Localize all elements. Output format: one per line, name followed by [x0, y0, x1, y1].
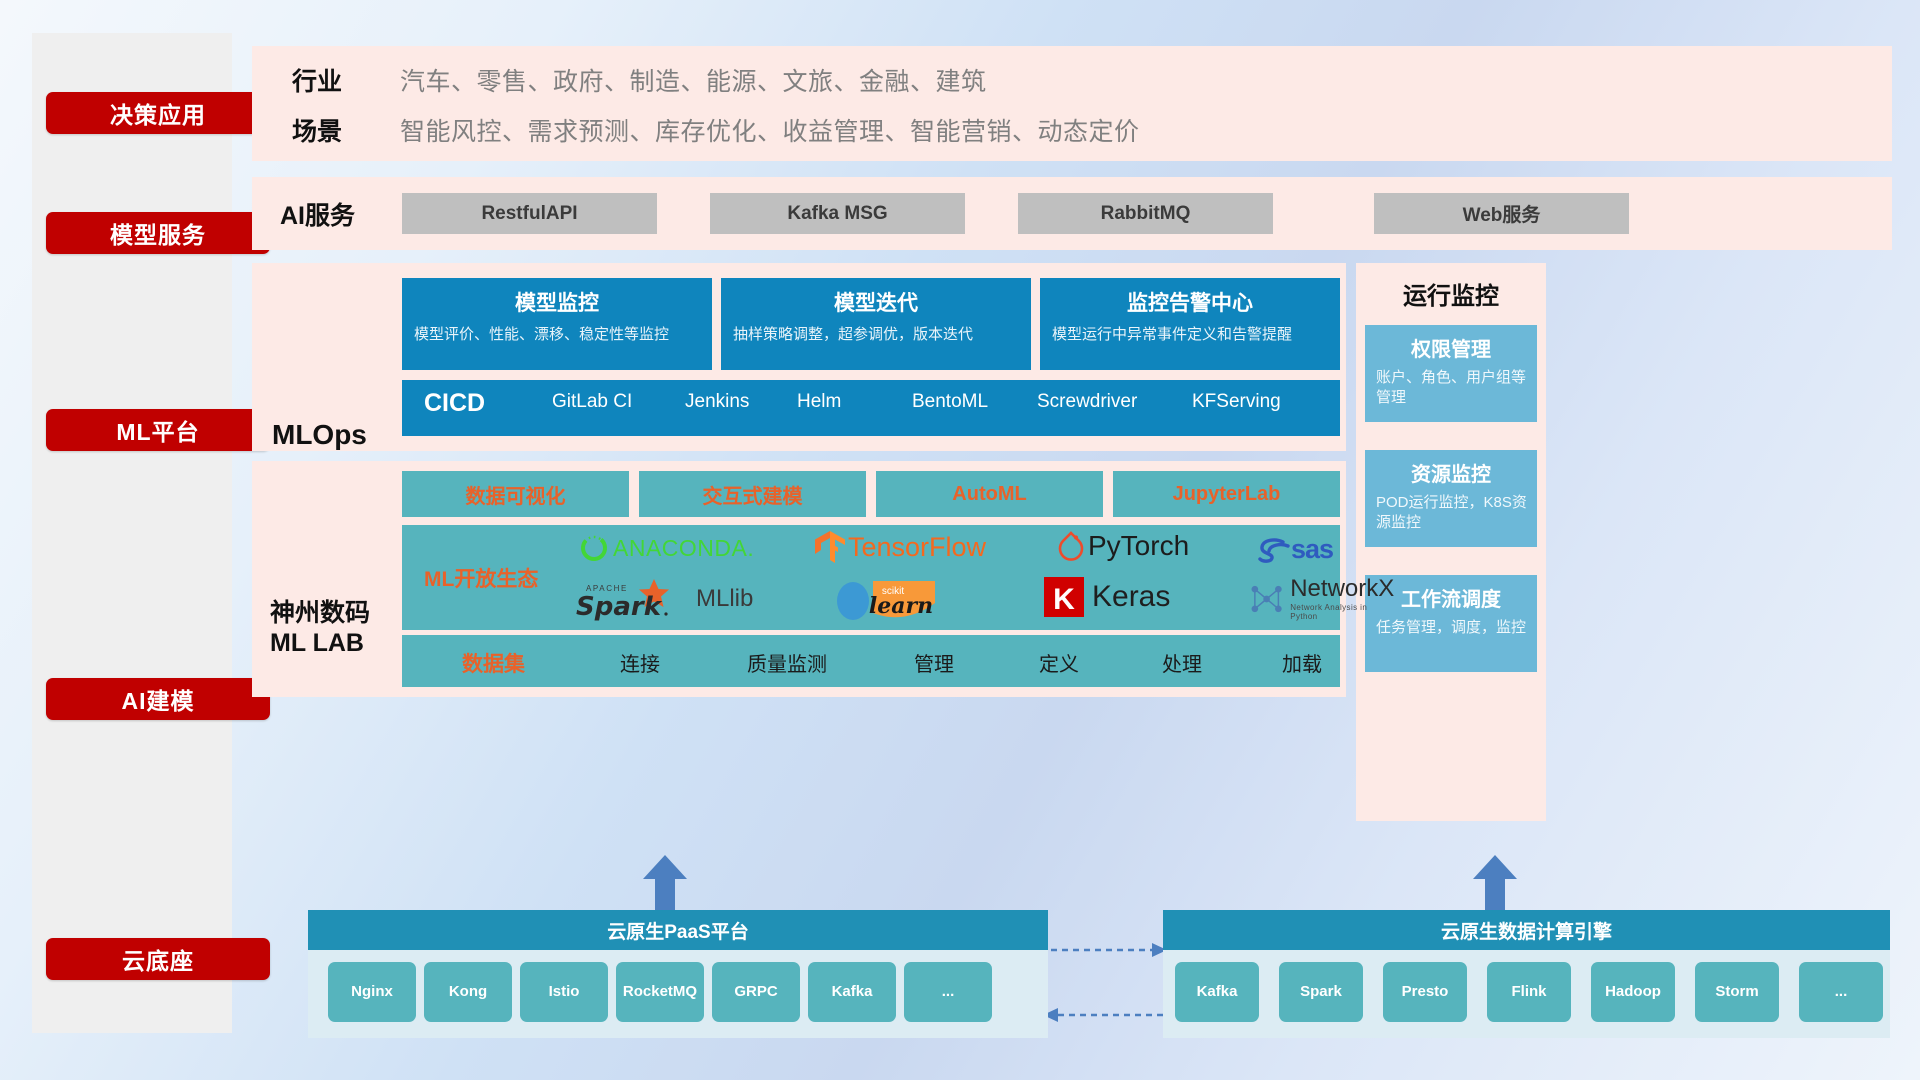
- tool-chip-label: JupyterLab: [1173, 483, 1281, 506]
- dataset-label: 数据集: [462, 648, 525, 678]
- networkx-wordmark: NetworkX: [1290, 577, 1395, 601]
- runtime-monitoring-band: 运行监控 权限管理 账户、角色、用户组等管理 资源监控 POD运行监控，K8S资…: [1356, 263, 1546, 821]
- tool-chip-interactive-modeling[interactable]: 交互式建模: [639, 471, 866, 517]
- mllib-wordmark: MLlib: [696, 585, 753, 613]
- tool-chip-label: AutoML: [952, 483, 1026, 506]
- layer-chip-label: 模型服务: [110, 216, 206, 250]
- service-chip-label: Web服务: [1463, 200, 1541, 227]
- paas-tech-grpc[interactable]: GRPC: [712, 962, 800, 1022]
- dataset-item-load[interactable]: 加载: [1282, 648, 1322, 677]
- sas-logo: sas: [1257, 534, 1333, 565]
- paas-tech-kong[interactable]: Kong: [424, 962, 512, 1022]
- spark-mllib-logo: APACHE Spark MLlib: [570, 577, 753, 621]
- industry-row: 行业 汽车、零售、政府、制造、能源、文旅、金融、建筑: [292, 62, 987, 98]
- ml-lab-label-line1: 神州数码: [270, 598, 370, 629]
- runtime-monitoring-title: 运行监控: [1356, 276, 1546, 311]
- layer-chip-ml-platform[interactable]: ML平台: [46, 409, 270, 451]
- layer-chip-label: 云底座: [122, 942, 194, 976]
- cicd-item-bentoml[interactable]: BentoML: [912, 391, 1004, 413]
- svg-text:learn: learn: [869, 593, 933, 619]
- cicd-item-helm[interactable]: Helm: [797, 391, 889, 413]
- dataset-item-manage[interactable]: 管理: [914, 648, 954, 677]
- mlops-card-desc: 模型运行中异常事件定义和告警提醒: [1052, 325, 1330, 345]
- sas-icon: [1257, 537, 1291, 563]
- monitor-card-resource[interactable]: 资源监控 POD运行监控，K8S资源监控: [1365, 450, 1537, 547]
- layer-chip-model-service[interactable]: 模型服务: [46, 212, 270, 254]
- service-chip-web[interactable]: Web服务: [1374, 193, 1629, 234]
- ai-service-label: AI服务: [280, 177, 400, 250]
- monitor-card-desc: 账户、角色、用户组等管理: [1376, 368, 1527, 409]
- up-arrow-compute: [1470, 855, 1520, 910]
- service-chip-label: RabbitMQ: [1101, 203, 1191, 225]
- paas-tech-istio[interactable]: Istio: [520, 962, 608, 1022]
- scenario-value: 智能风控、需求预测、库存优化、收益管理、智能营销、动态定价: [400, 112, 1140, 148]
- tool-chip-label: 交互式建模: [703, 480, 803, 509]
- tensorflow-logo: TensorFlow: [814, 530, 986, 564]
- architecture-diagram: 决策应用 模型服务 ML平台 AI建模 云底座 行业 汽车、零售、政府、制造、能…: [0, 0, 1920, 1080]
- dataset-item-define[interactable]: 定义: [1039, 648, 1079, 677]
- mlops-card-alert-center[interactable]: 监控告警中心 模型运行中异常事件定义和告警提醒: [1040, 278, 1340, 370]
- application-band: 行业 汽车、零售、政府、制造、能源、文旅、金融、建筑 场景 智能风控、需求预测、…: [252, 46, 1892, 161]
- keras-logo: K Keras: [1042, 575, 1170, 619]
- anaconda-wordmark: ANACONDA.: [613, 535, 754, 562]
- cicd-item-jenkins[interactable]: Jenkins: [685, 391, 777, 413]
- compute-tech-more[interactable]: ...: [1799, 962, 1883, 1022]
- dashed-arrow-right: [1040, 940, 1170, 960]
- mlops-card-title: 监控告警中心: [1040, 287, 1340, 317]
- tool-chip-data-visualization[interactable]: 数据可视化: [402, 471, 629, 517]
- compute-stack: 云原生数据计算引擎 Kafka Spark Presto Flink Hadoo…: [1163, 910, 1890, 1038]
- layer-chip-ai-modeling[interactable]: AI建模: [46, 678, 270, 720]
- tool-chip-jupyterlab[interactable]: JupyterLab: [1113, 471, 1340, 517]
- ml-ecosystem-label: ML开放生态: [424, 563, 538, 593]
- cicd-item-gitlab-ci[interactable]: GitLab CI: [552, 391, 644, 413]
- dataset-item-process[interactable]: 处理: [1162, 648, 1202, 677]
- layer-rail: [32, 33, 232, 1033]
- paas-header: 云原生PaaS平台: [308, 910, 1048, 950]
- scenario-key: 场景: [292, 112, 400, 148]
- monitor-card-desc: 任务管理，调度，监控: [1376, 618, 1527, 638]
- pytorch-logo: PyTorch: [1057, 530, 1189, 562]
- compute-tech-flink[interactable]: Flink: [1487, 962, 1571, 1022]
- networkx-icon: [1247, 579, 1286, 619]
- mlops-band: MLOps 模型监控 模型评价、性能、漂移、稳定性等监控 模型迭代 抽样策略调整…: [252, 263, 1346, 451]
- layer-chip-label: ML平台: [116, 413, 199, 447]
- dataset-item-quality[interactable]: 质量监测: [747, 648, 827, 677]
- keras-wordmark: Keras: [1092, 580, 1170, 614]
- compute-tech-spark[interactable]: Spark: [1279, 962, 1363, 1022]
- scikit-learn-logo: scikit learn: [833, 577, 963, 623]
- monitor-card-title: 权限管理: [1365, 333, 1537, 362]
- cicd-item-screwdriver[interactable]: Screwdriver: [1037, 391, 1129, 413]
- ai-service-band: AI服务 RestfulAPI Kafka MSG RabbitMQ Web服务: [252, 177, 1892, 250]
- mlops-card-desc: 模型评价、性能、漂移、稳定性等监控: [414, 325, 702, 345]
- svg-text:K: K: [1053, 583, 1075, 616]
- cicd-strip: CICD GitLab CI Jenkins Helm BentoML Scre…: [402, 380, 1340, 436]
- compute-header: 云原生数据计算引擎: [1163, 910, 1890, 950]
- up-arrow-paas: [640, 855, 690, 910]
- paas-tech-more[interactable]: ...: [904, 962, 992, 1022]
- paas-tech-nginx[interactable]: Nginx: [328, 962, 416, 1022]
- svg-text:Spark: Spark: [576, 592, 663, 621]
- compute-tech-storm[interactable]: Storm: [1695, 962, 1779, 1022]
- compute-tech-hadoop[interactable]: Hadoop: [1591, 962, 1675, 1022]
- paas-tech-rocketmq[interactable]: RocketMQ: [616, 962, 704, 1022]
- mlops-card-desc: 抽样策略调整，超参调优，版本迭代: [733, 325, 1021, 345]
- dashed-arrow-left: [1040, 1005, 1170, 1025]
- scikit-learn-icon: scikit learn: [833, 577, 963, 623]
- mlops-card-model-monitoring[interactable]: 模型监控 模型评价、性能、漂移、稳定性等监控: [402, 278, 712, 370]
- cicd-label: CICD: [424, 389, 485, 418]
- networkx-logo: NetworkX Network Analysis in Python: [1247, 577, 1395, 621]
- layer-chip-label: 决策应用: [110, 96, 206, 130]
- paas-stack: 云原生PaaS平台 Nginx Kong Istio RocketMQ GRPC…: [308, 910, 1048, 1038]
- tensorflow-wordmark: TensorFlow: [848, 532, 986, 563]
- mlops-card-model-iteration[interactable]: 模型迭代 抽样策略调整，超参调优，版本迭代: [721, 278, 1031, 370]
- service-chip-kafka-msg[interactable]: Kafka MSG: [710, 193, 965, 234]
- tool-chip-label: 数据可视化: [466, 480, 566, 509]
- service-chip-restfulapi[interactable]: RestfulAPI: [402, 193, 657, 234]
- ml-ecosystem-strip: ML开放生态 ANACONDA. TensorFlow: [402, 525, 1340, 630]
- cicd-item-kfserving[interactable]: KFServing: [1192, 391, 1284, 413]
- layer-chip-label: AI建模: [122, 682, 195, 716]
- mlops-card-title: 模型监控: [402, 287, 712, 317]
- monitor-card-title: 资源监控: [1365, 458, 1537, 487]
- pytorch-wordmark: PyTorch: [1088, 530, 1189, 562]
- networkx-tagline: Network Analysis in Python: [1290, 603, 1395, 621]
- layer-chip-cloud-base[interactable]: 云底座: [46, 938, 270, 980]
- anaconda-logo: ANACONDA.: [579, 533, 754, 563]
- spark-icon: APACHE Spark: [570, 577, 690, 621]
- monitor-card-permission[interactable]: 权限管理 账户、角色、用户组等管理: [1365, 325, 1537, 422]
- tool-chip-automl[interactable]: AutoML: [876, 471, 1103, 517]
- compute-tech-kafka[interactable]: Kafka: [1175, 962, 1259, 1022]
- pytorch-icon: [1057, 530, 1085, 562]
- service-chip-rabbitmq[interactable]: RabbitMQ: [1018, 193, 1273, 234]
- compute-tech-presto[interactable]: Presto: [1383, 962, 1467, 1022]
- ml-lab-label-line2: ML LAB: [270, 628, 364, 659]
- sas-wordmark: sas: [1291, 534, 1333, 565]
- ml-lab-label: 神州数码 ML LAB: [270, 461, 404, 697]
- anaconda-icon: [579, 533, 609, 563]
- service-chip-label: RestfulAPI: [481, 203, 577, 225]
- keras-icon: K: [1042, 575, 1086, 619]
- layer-chip-decision[interactable]: 决策应用: [46, 92, 270, 134]
- monitor-card-desc: POD运行监控，K8S资源监控: [1376, 493, 1527, 534]
- industry-value: 汽车、零售、政府、制造、能源、文旅、金融、建筑: [400, 62, 987, 98]
- industry-key: 行业: [292, 62, 400, 98]
- scenario-row: 场景 智能风控、需求预测、库存优化、收益管理、智能营销、动态定价: [292, 112, 1140, 148]
- mlops-card-title: 模型迭代: [721, 287, 1031, 317]
- ml-lab-band: 神州数码 ML LAB 数据可视化 交互式建模 AutoML JupyterLa…: [252, 461, 1346, 697]
- tensorflow-icon: [814, 530, 846, 564]
- paas-tech-kafka[interactable]: Kafka: [808, 962, 896, 1022]
- service-chip-label: Kafka MSG: [787, 203, 887, 225]
- dataset-strip: 数据集 连接 质量监测 管理 定义 处理 加载: [402, 635, 1340, 687]
- dataset-item-connect[interactable]: 连接: [620, 648, 660, 677]
